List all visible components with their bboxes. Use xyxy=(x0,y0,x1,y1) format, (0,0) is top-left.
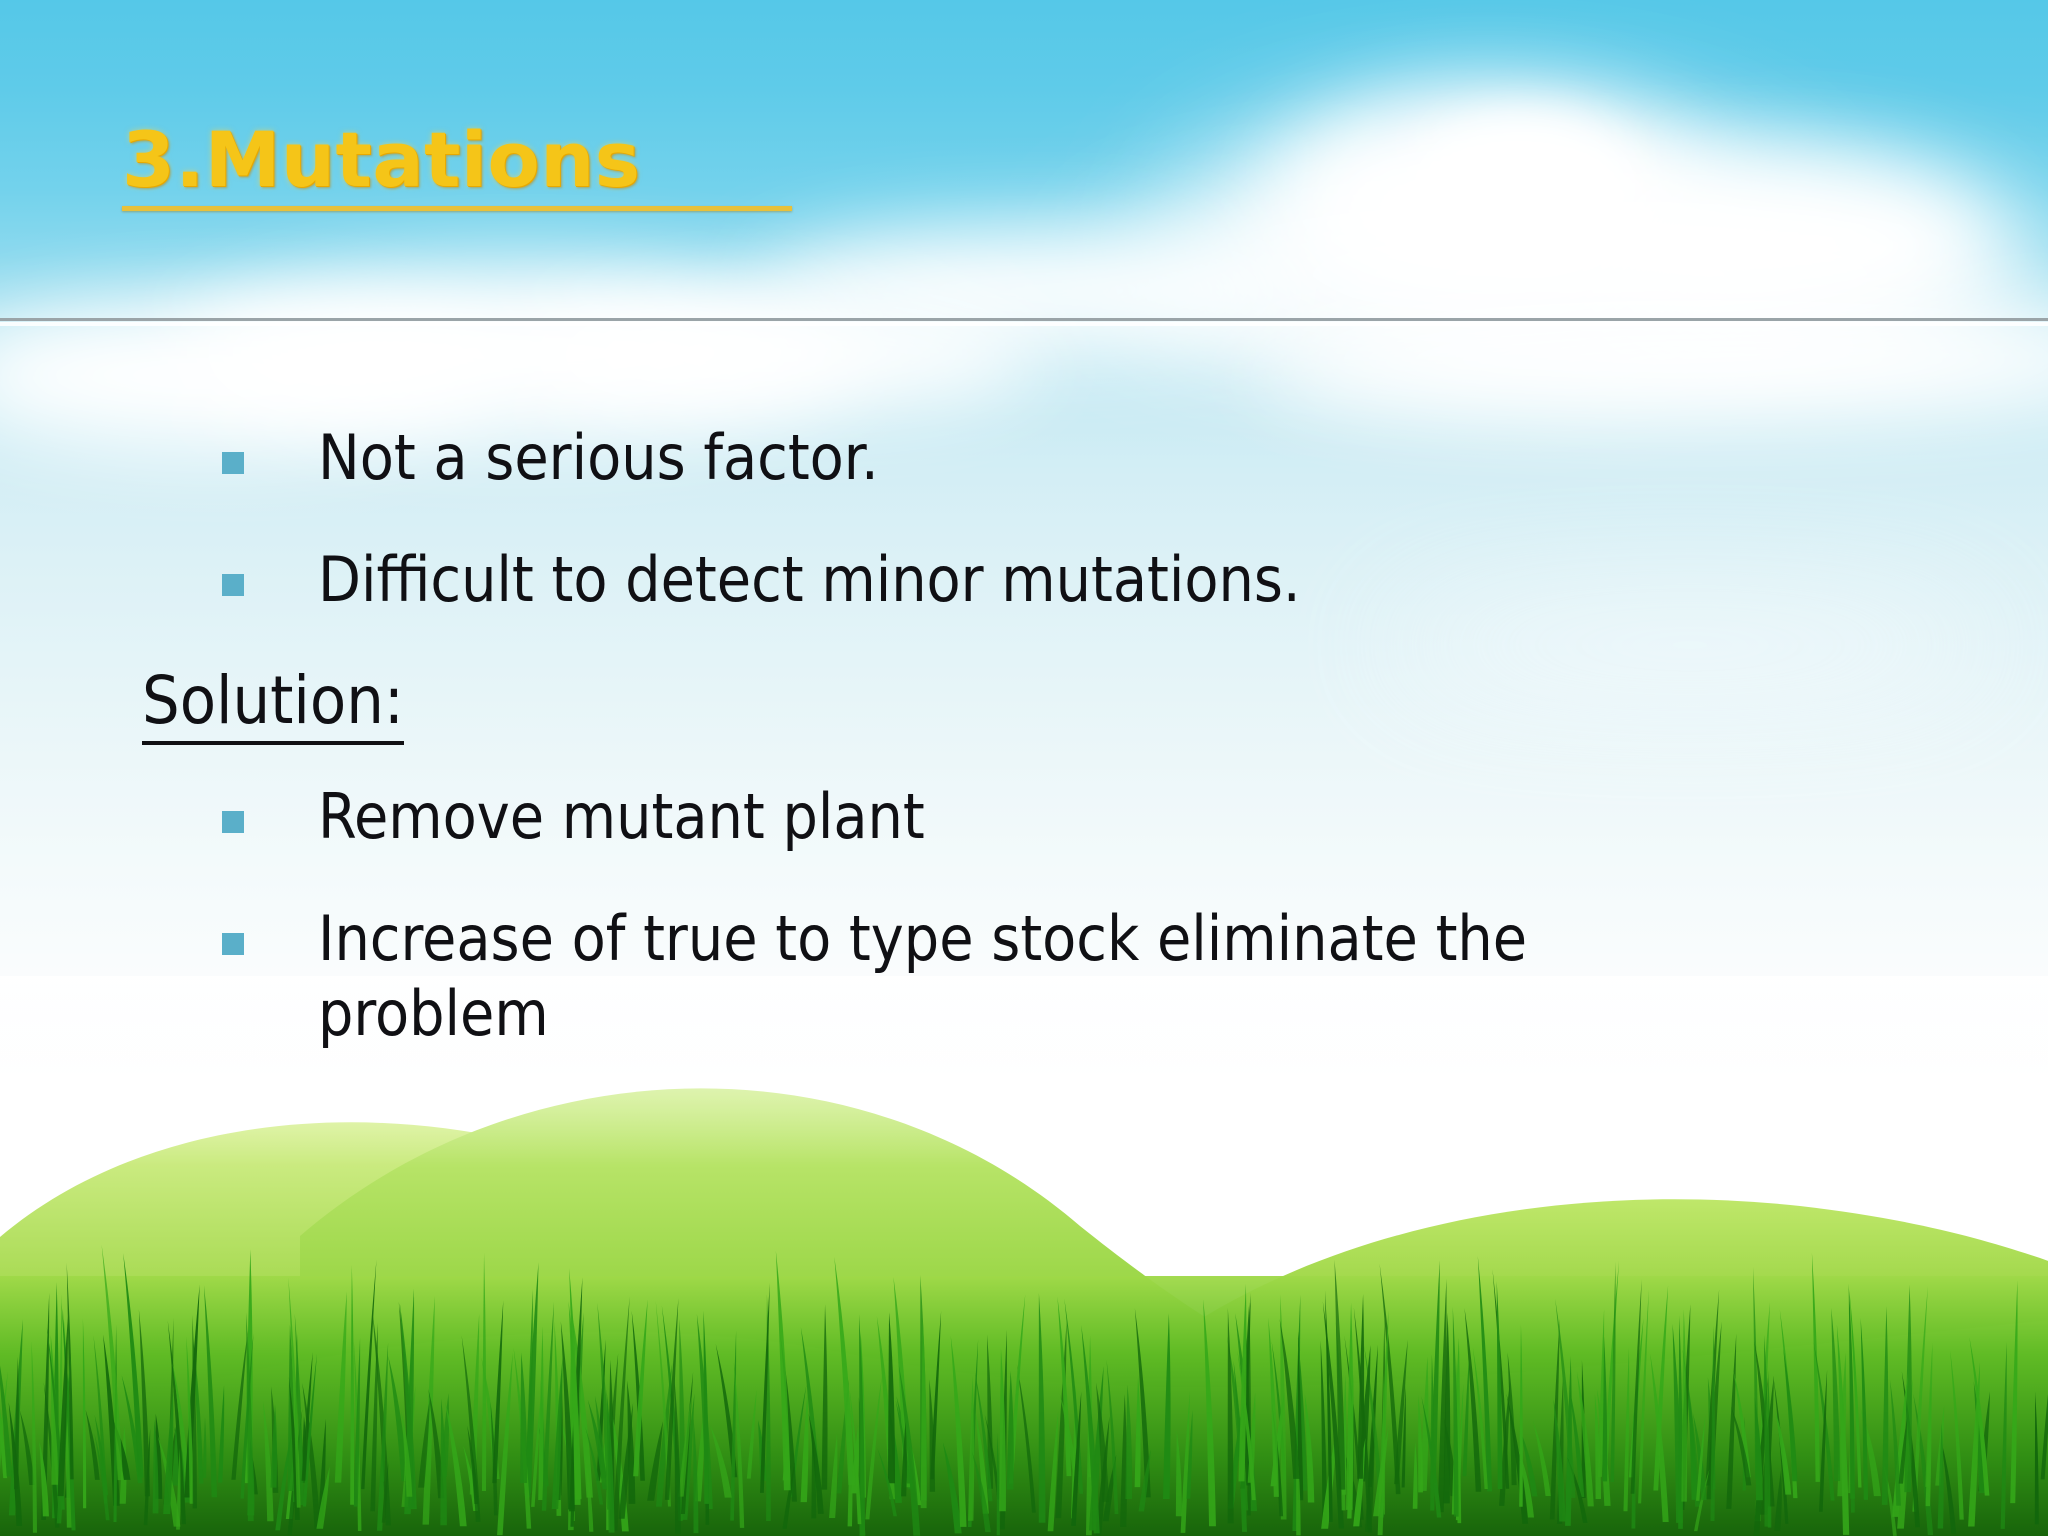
header-divider xyxy=(0,318,2048,328)
slide-body: Not a serious factor. Difficult to detec… xyxy=(0,420,2048,1098)
divider-line-light xyxy=(0,322,2048,326)
bullet-square-icon xyxy=(222,811,244,833)
slide-title-text: 3.Mutations xyxy=(122,122,792,198)
bullet-item: Increase of true to type stock eliminate… xyxy=(0,901,2048,1052)
section-heading: Solution: xyxy=(0,663,2048,739)
divider-line-dark xyxy=(0,318,2048,321)
bullet-item-label: Not a serious factor. xyxy=(318,420,879,496)
slide-title: 3.Mutations xyxy=(122,122,792,211)
bullet-item: Not a serious factor. xyxy=(0,420,2048,496)
bullet-item-label: Increase of true to type stock eliminate… xyxy=(318,901,1698,1052)
bullet-square-icon xyxy=(222,933,244,955)
bullet-square-icon xyxy=(222,452,244,474)
bullet-item-label: Remove mutant plant xyxy=(318,779,925,855)
presentation-slide: 3.Mutations Not a serious factor. Diffic… xyxy=(0,0,2048,1536)
cloud-shape xyxy=(520,300,1040,410)
bullet-item-label: Difficult to detect minor mutations. xyxy=(318,542,1301,618)
section-heading-label: Solution: xyxy=(142,662,404,745)
bullet-item: Remove mutant plant xyxy=(0,779,2048,855)
bullet-square-icon xyxy=(222,574,244,596)
bullet-item: Difficult to detect minor mutations. xyxy=(0,542,2048,618)
slide-title-underline xyxy=(122,206,792,211)
